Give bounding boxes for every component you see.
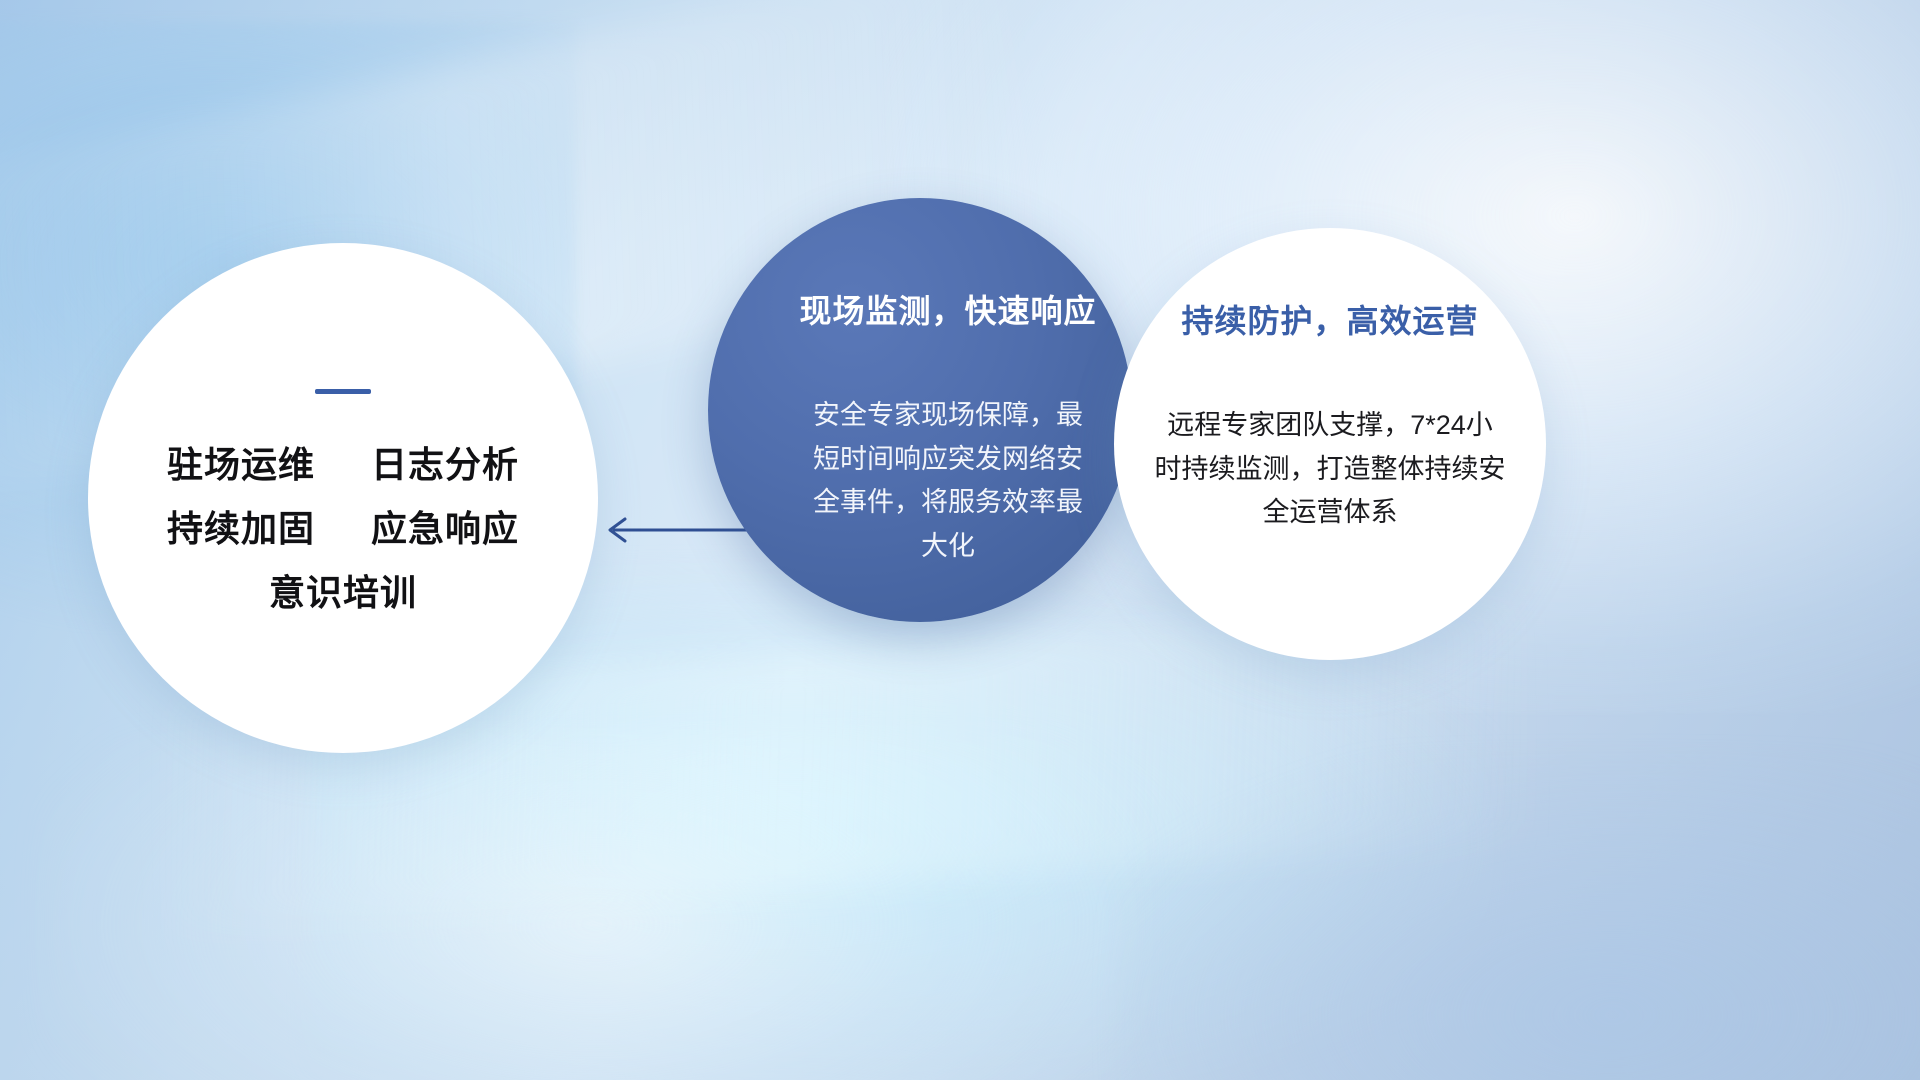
slide-canvas: 驻场运维 日志分析 持续加固 应急响应 意识培训 现场监测，快速响应 安全专家现… [0, 0, 1920, 1080]
capability-row-3: 意识培训 [269, 574, 417, 612]
capability-item-yishipeixun: 意识培训 [269, 572, 417, 613]
feature-circle-continuous-protection[interactable]: 持续防护，高效运营 远程专家团队支撑，7*24小时持续监测，打造整体持续安全运营… [1114, 228, 1546, 660]
capability-list: 驻场运维 日志分析 持续加固 应急响应 意识培训 [167, 446, 519, 611]
capability-item-zhuchangyunwei: 驻场运维 [167, 444, 315, 485]
capability-item-rizhifenxi: 日志分析 [371, 444, 519, 485]
feature-title-continuous: 持续防护，高效运营 [1181, 296, 1478, 342]
capability-item-yingjixiangying: 应急响应 [371, 508, 519, 549]
horizontal-dash-icon [315, 389, 371, 394]
feature-body-onsite: 安全专家现场保障，最短时间响应突发网络安全事件，将服务效率最大化 [803, 394, 1093, 569]
capability-item-chixujiagu: 持续加固 [167, 508, 315, 549]
capability-circle-left[interactable]: 驻场运维 日志分析 持续加固 应急响应 意识培训 [88, 243, 598, 753]
capability-row-1: 驻场运维 日志分析 [167, 446, 519, 484]
feature-title-onsite: 现场监测，快速响应 [799, 286, 1096, 332]
feature-circle-onsite-monitoring[interactable]: 现场监测，快速响应 安全专家现场保障，最短时间响应突发网络安全事件，将服务效率最… [708, 198, 1132, 622]
capability-row-2: 持续加固 应急响应 [167, 510, 519, 548]
feature-body-continuous: 远程专家团队支撑，7*24小时持续监测，打造整体持续安全运营体系 [1154, 404, 1506, 535]
